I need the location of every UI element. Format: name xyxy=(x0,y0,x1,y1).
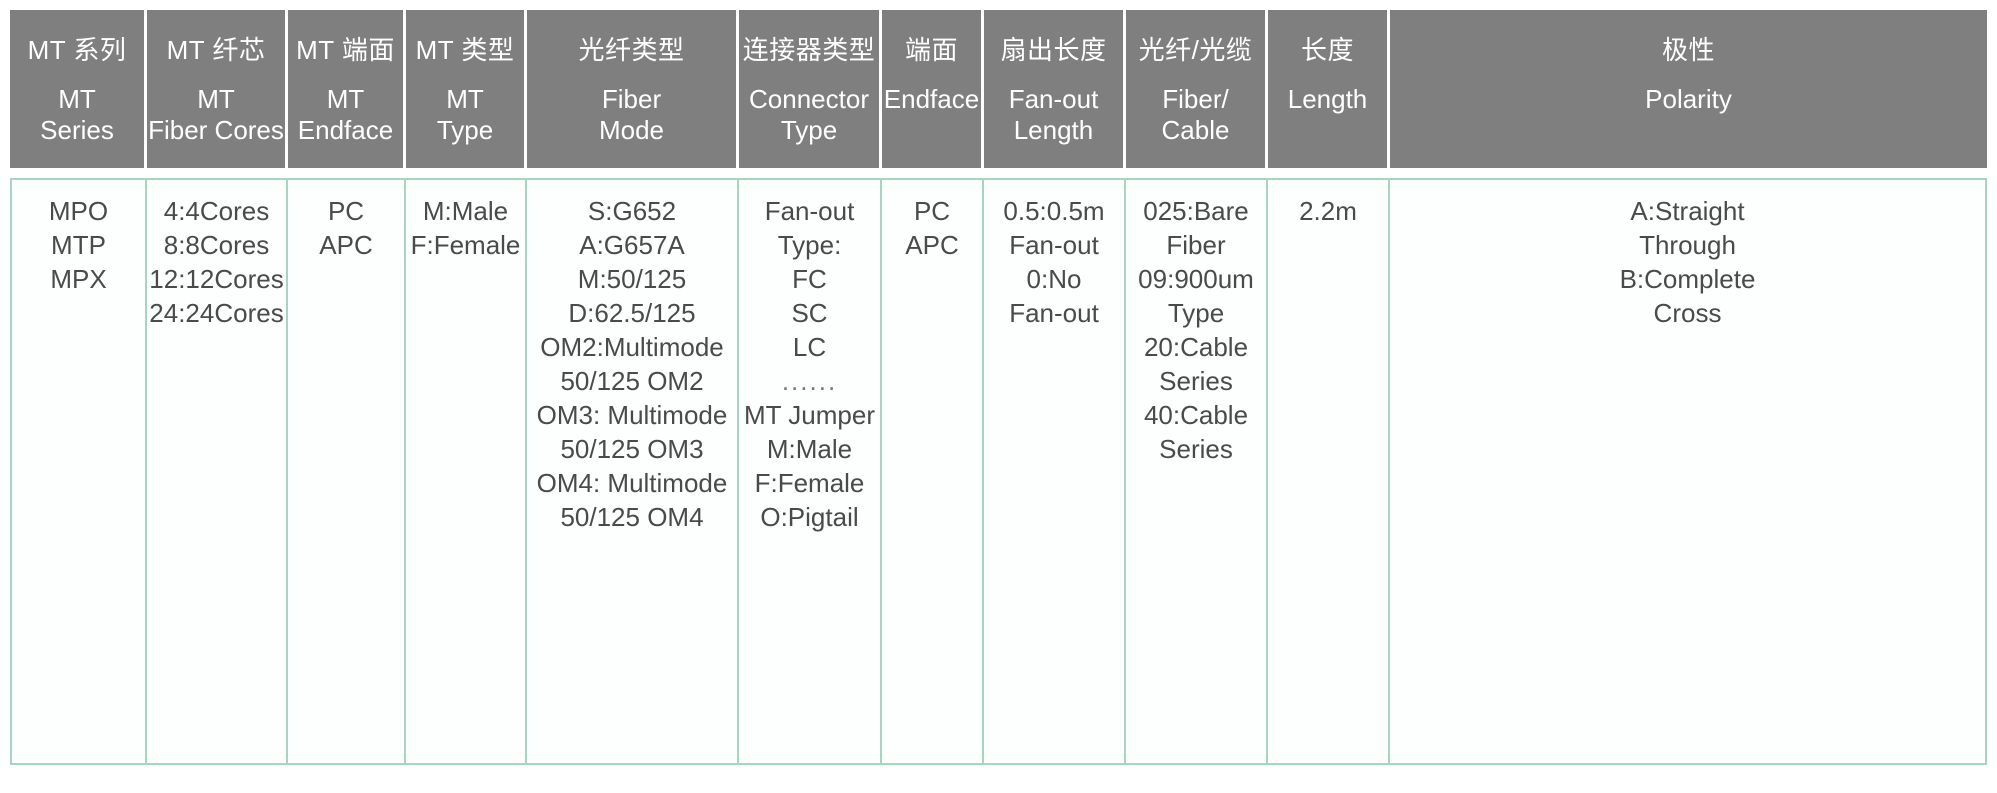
cell-line: A:G657A xyxy=(579,228,685,262)
column-header-en-label: Fiber/ Cable xyxy=(1162,84,1230,146)
column-header-en-label: Fiber Mode xyxy=(599,84,664,146)
cell-line: S:G652 xyxy=(588,194,676,228)
cell-line: 4:4Cores xyxy=(164,194,270,228)
cell-line: Fan-out xyxy=(1009,296,1099,330)
cell-line: 0:No xyxy=(1027,262,1082,296)
cell-line: OM2:Multimode xyxy=(540,330,724,364)
cell-line: FC xyxy=(792,262,827,296)
cell-mt-fiber-cores: 4:4Cores 8:8Cores 12:12Cores 24:24Cores xyxy=(147,180,288,763)
cell-connector-type: Fan-out Type: FC SC LC ...... MT Jumper … xyxy=(739,180,882,763)
column-header-cn-label: 极性 xyxy=(1662,34,1715,66)
cell-line: 50/125 OM4 xyxy=(560,500,703,534)
table-body-row: MPO MTP MPX 4:4Cores 8:8Cores 12:12Cores… xyxy=(10,178,1987,765)
column-header-mt-endface: MT 端面 MT Endface xyxy=(288,10,406,168)
column-header-cn-label: 连接器类型 xyxy=(743,34,876,66)
column-header-en-label: Fan-out Length xyxy=(1009,84,1099,146)
column-header-en-label: MT Type xyxy=(437,84,493,146)
cell-line: 40:Cable xyxy=(1144,398,1248,432)
cell-line: MPO xyxy=(49,194,108,228)
cell-line: Type: xyxy=(778,228,842,262)
cell-line: 09:900um xyxy=(1138,262,1254,296)
column-header-fanout-length: 扇出长度 Fan-out Length xyxy=(984,10,1126,168)
cell-line: Type xyxy=(1168,296,1224,330)
cell-line: 20:Cable xyxy=(1144,330,1248,364)
cell-line: 025:Bare xyxy=(1143,194,1249,228)
cell-line: Cross xyxy=(1654,296,1722,330)
column-header-length: 长度 Length xyxy=(1268,10,1390,168)
table-header-row: MT 系列 MT Series MT 纤芯 MT Fiber Cores MT … xyxy=(10,10,1987,168)
cell-line: 12:12Cores xyxy=(149,262,283,296)
cell-line: OM3: Multimode xyxy=(537,398,728,432)
cell-line: D:62.5/125 xyxy=(568,296,695,330)
product-code-breakdown-table: MT 系列 MT Series MT 纤芯 MT Fiber Cores MT … xyxy=(0,0,1997,793)
column-header-cn-label: 长度 xyxy=(1301,34,1354,66)
cell-line: OM4: Multimode xyxy=(537,466,728,500)
cell-line: M:Male xyxy=(423,194,508,228)
cell-polarity: A:Straight Through B:Complete Cross xyxy=(1390,180,1987,763)
cell-mt-series: MPO MTP MPX xyxy=(10,180,147,763)
cell-line: 24:24Cores xyxy=(149,296,283,330)
cell-line: MTP xyxy=(51,228,106,262)
column-header-en-label: MT Fiber Cores xyxy=(148,84,284,146)
cell-line: PC xyxy=(914,194,950,228)
cell-line: 0.5:0.5m xyxy=(1003,194,1104,228)
cell-line: M:Male xyxy=(767,432,852,466)
column-header-endface: 端面 Endface xyxy=(882,10,984,168)
column-header-connector-type: 连接器类型 Connector Type xyxy=(739,10,882,168)
column-header-en-label: Connector Type xyxy=(749,84,869,146)
cell-line: O:Pigtail xyxy=(760,500,858,534)
cell-mt-endface: PC APC xyxy=(288,180,406,763)
cell-mt-type: M:Male F:Female xyxy=(406,180,527,763)
cell-line: APC xyxy=(905,228,958,262)
cell-line: Fiber xyxy=(1166,228,1225,262)
cell-line: Through xyxy=(1639,228,1736,262)
column-header-fiber-mode: 光纤类型 Fiber Mode xyxy=(527,10,739,168)
cell-line: Fan-out xyxy=(765,194,855,228)
column-header-cn-label: MT 系列 xyxy=(28,34,127,66)
column-header-mt-series: MT 系列 MT Series xyxy=(10,10,147,168)
column-header-mt-fiber-cores: MT 纤芯 MT Fiber Cores xyxy=(147,10,288,168)
cell-line: MPX xyxy=(50,262,106,296)
cell-fiber-cable: 025:Bare Fiber 09:900um Type 20:Cable Se… xyxy=(1126,180,1268,763)
cell-fanout-length: 0.5:0.5m Fan-out 0:No Fan-out xyxy=(984,180,1126,763)
cell-line: 8:8Cores xyxy=(164,228,270,262)
cell-line: LC xyxy=(793,330,826,364)
cell-line: F:Female xyxy=(755,466,865,500)
cell-line: A:Straight xyxy=(1630,194,1744,228)
column-header-en-label: MT Endface xyxy=(298,84,393,146)
column-header-cn-label: MT 类型 xyxy=(416,34,515,66)
column-header-en-label: Length xyxy=(1288,84,1368,115)
cell-line: F:Female xyxy=(411,228,521,262)
cell-fiber-mode: S:G652 A:G657A M:50/125 D:62.5/125 OM2:M… xyxy=(527,180,739,763)
cell-line: Fan-out xyxy=(1009,228,1099,262)
cell-line: 2.2m xyxy=(1299,194,1357,228)
column-header-cn-label: 扇出长度 xyxy=(1000,34,1106,66)
cell-line: Series xyxy=(1159,364,1233,398)
column-header-cn-label: MT 端面 xyxy=(296,34,395,66)
cell-line: APC xyxy=(319,228,372,262)
cell-length: 2.2m xyxy=(1268,180,1390,763)
column-header-cn-label: 光纤/光缆 xyxy=(1139,34,1253,66)
cell-line: 50/125 OM3 xyxy=(560,432,703,466)
column-header-cn-label: 端面 xyxy=(905,34,958,66)
column-header-en-label: Polarity xyxy=(1645,84,1732,115)
column-header-fiber-cable: 光纤/光缆 Fiber/ Cable xyxy=(1126,10,1268,168)
column-header-polarity: 极性 Polarity xyxy=(1390,10,1987,168)
cell-line: 50/125 OM2 xyxy=(560,364,703,398)
cell-endface: PC APC xyxy=(882,180,984,763)
column-header-cn-label: MT 纤芯 xyxy=(167,34,266,66)
column-header-en-label: MT Series xyxy=(40,84,114,146)
cell-line-ellipsis: ...... xyxy=(782,364,837,398)
cell-line: PC xyxy=(328,194,364,228)
cell-line: B:Complete xyxy=(1620,262,1756,296)
cell-line: Series xyxy=(1159,432,1233,466)
column-header-en-label: Endface xyxy=(884,84,979,115)
cell-line: M:50/125 xyxy=(578,262,686,296)
column-header-cn-label: 光纤类型 xyxy=(578,34,684,66)
cell-line: SC xyxy=(791,296,827,330)
column-header-mt-type: MT 类型 MT Type xyxy=(406,10,527,168)
cell-line: MT Jumper xyxy=(744,398,875,432)
